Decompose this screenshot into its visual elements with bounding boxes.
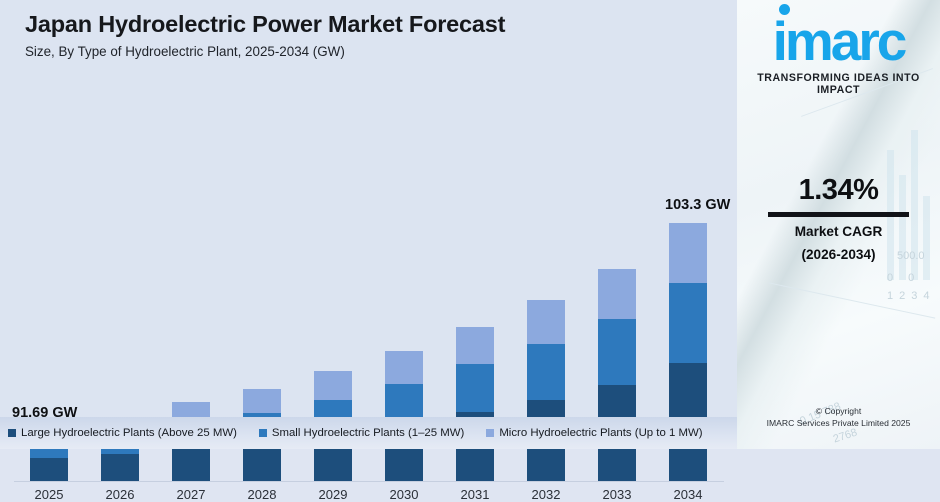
legend-label-large: Large Hydroelectric Plants (Above 25 MW) [21,427,237,439]
value-label-2034: 103.3 GW [665,197,730,213]
logo-dot-icon [779,4,790,15]
x-axis-label-2029: 2029 [303,487,363,502]
x-axis-label-2028: 2028 [232,487,292,502]
cagr-divider [768,212,909,217]
bar-2031[interactable] [456,327,494,481]
x-axis-label-2033: 2033 [587,487,647,502]
decorative-digits: 1234 [887,290,935,302]
plot-area: 2025202620272028202920302031203220332034… [0,95,737,387]
bar-2032[interactable] [527,300,565,481]
brand-panel: 1234 0 0 500.0 0.15 788 2768 imarc TRANS… [737,0,940,449]
bar-segment-micro-2028 [243,389,281,413]
legend-swatch-large-icon [8,429,16,437]
bar-2033[interactable] [598,269,636,481]
cagr-label: Market CAGR [737,224,940,239]
x-axis-label-2027: 2027 [161,487,221,502]
chart-legend: Large Hydroelectric Plants (Above 25 MW)… [0,417,737,449]
bar-segment-small-2033 [598,319,636,385]
bar-segment-micro-2034 [669,223,707,283]
bar-segment-micro-2033 [598,269,636,319]
legend-label-micro: Micro Hydroelectric Plants (Up to 1 MW) [499,427,702,439]
logo-tagline: TRANSFORMING IDEAS INTO IMPACT [737,72,940,96]
x-axis-line [14,481,724,482]
imarc-logo: imarc TRANSFORMING IDEAS INTO IMPACT [737,14,940,96]
chart-screenshot: Japan Hydroelectric Power Market Forecas… [0,0,940,449]
bar-segment-large-2026 [101,454,139,481]
page-title: Japan Hydroelectric Power Market Forecas… [25,11,505,38]
legend-label-small: Small Hydroelectric Plants (1–25 MW) [272,427,464,439]
bar-segment-large-2027 [172,446,210,481]
legend-item-large[interactable]: Large Hydroelectric Plants (Above 25 MW) [8,427,237,439]
x-axis-label-2031: 2031 [445,487,505,502]
legend-item-small[interactable]: Small Hydroelectric Plants (1–25 MW) [259,427,464,439]
x-axis-label-2034: 2034 [658,487,718,502]
x-axis-label-2026: 2026 [90,487,150,502]
page-subtitle: Size, By Type of Hydroelectric Plant, 20… [25,44,345,59]
copyright-line-2: IMARC Services Private Limited 2025 [737,417,940,429]
legend-item-micro[interactable]: Micro Hydroelectric Plants (Up to 1 MW) [486,427,702,439]
chart-panel: Japan Hydroelectric Power Market Forecas… [0,0,737,449]
bar-segment-small-2032 [527,344,565,400]
bar-2030[interactable] [385,351,423,481]
legend-swatch-micro-icon [486,429,494,437]
bar-segment-micro-2030 [385,351,423,384]
bar-segment-small-2034 [669,283,707,363]
logo-wordmark: imarc [773,14,905,69]
copyright-line-1: © Copyright [737,405,940,417]
x-axis-label-2025: 2025 [19,487,79,502]
bar-segment-small-2031 [456,364,494,412]
cagr-period: (2026-2034) [737,247,940,262]
bar-segment-micro-2029 [314,371,352,400]
bar-segment-micro-2032 [527,300,565,344]
logo-text: imarc [773,10,905,72]
x-axis-label-2032: 2032 [516,487,576,502]
decorative-digits: 0 0 [887,272,920,284]
bar-segment-micro-2031 [456,327,494,364]
copyright-block: © Copyright IMARC Services Private Limit… [737,405,940,430]
bar-segment-large-2025 [30,458,68,481]
legend-swatch-small-icon [259,429,267,437]
x-axis-label-2030: 2030 [374,487,434,502]
cagr-value: 1.34% [737,174,940,207]
